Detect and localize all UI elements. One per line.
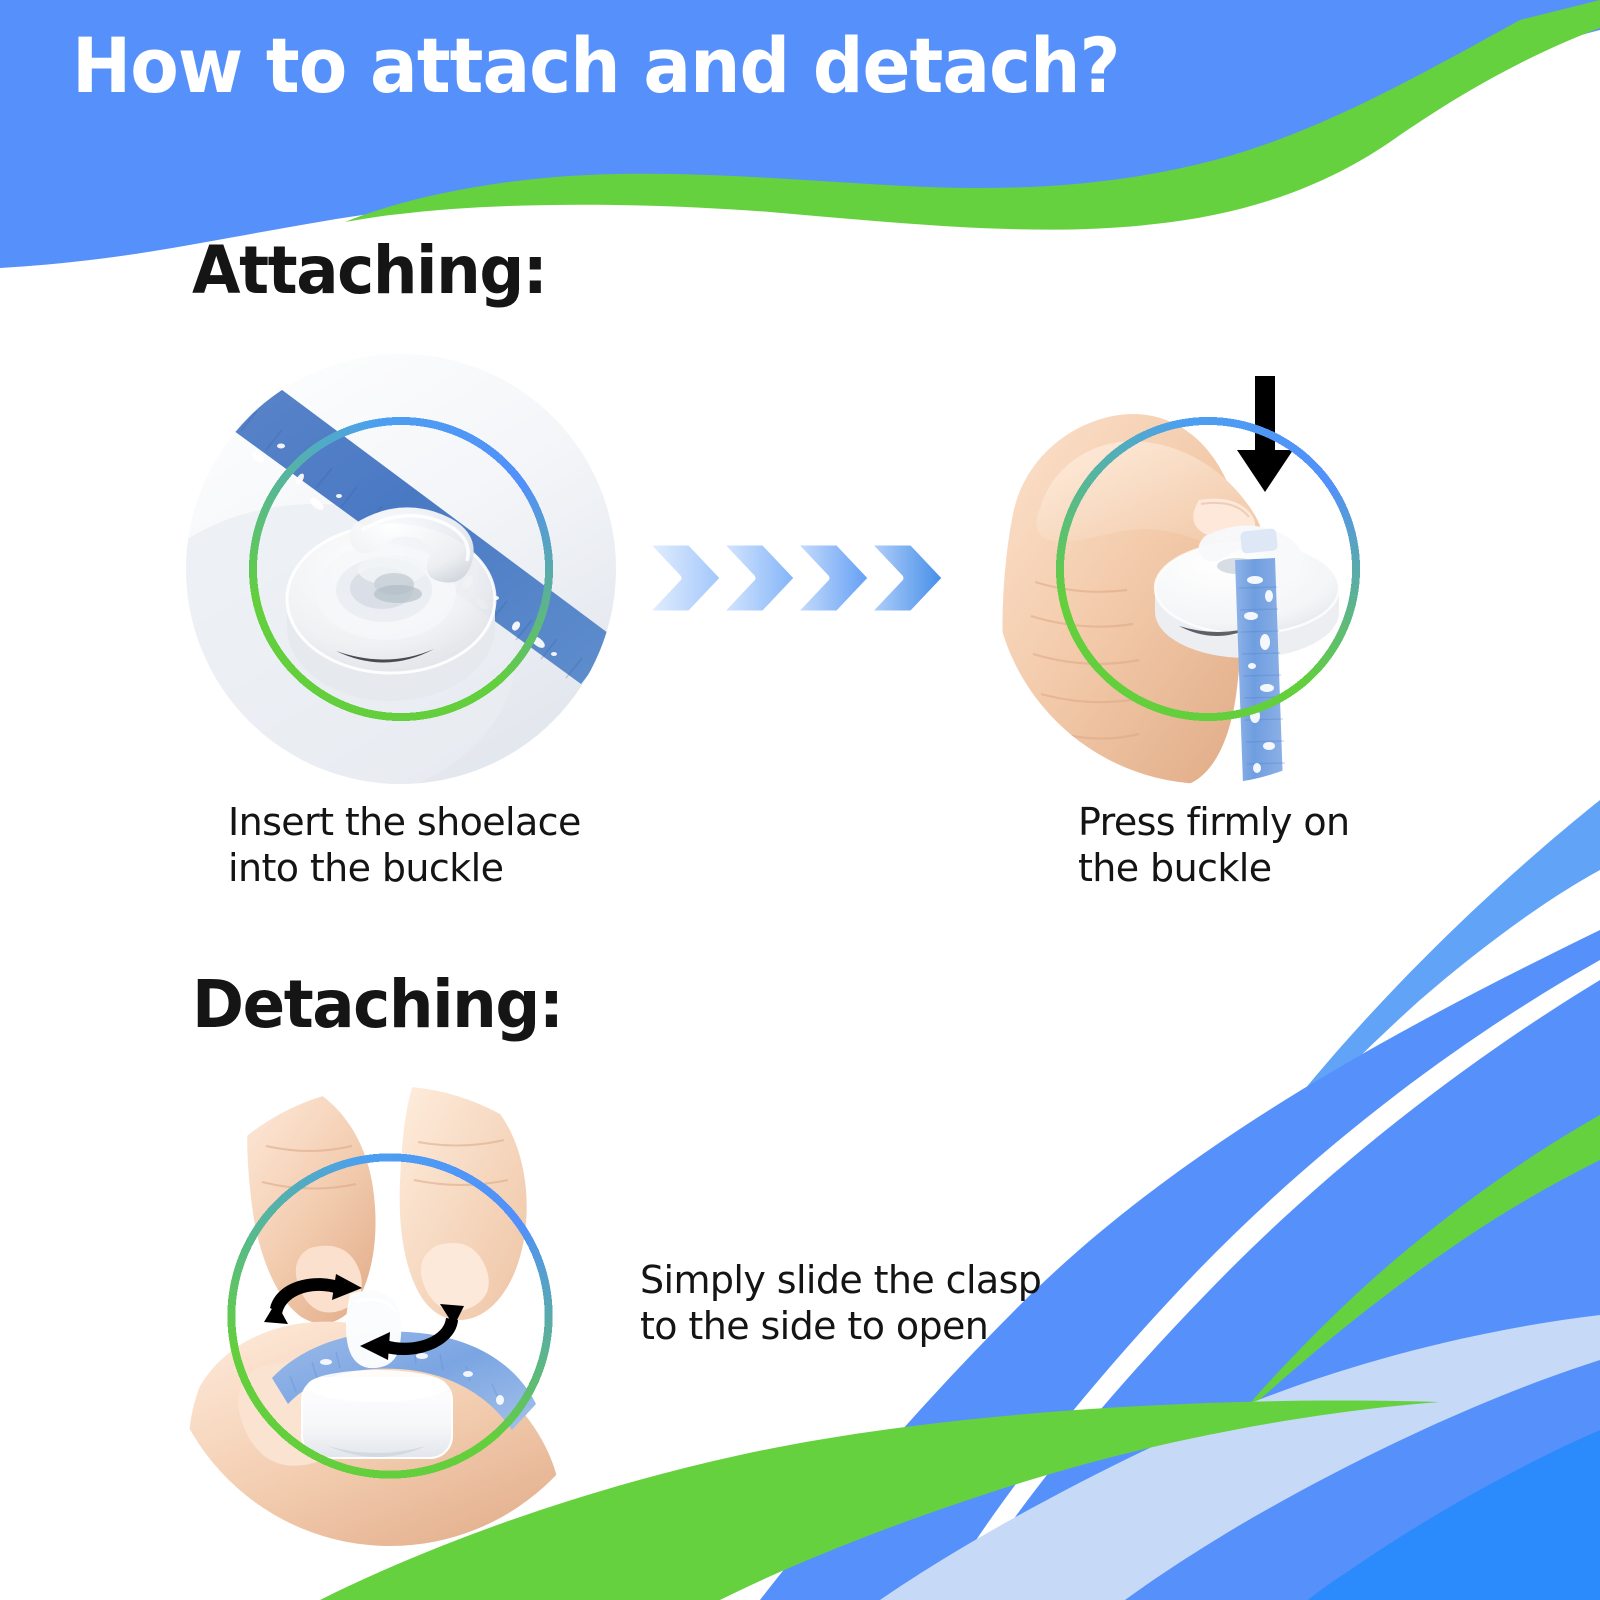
page-title: How to attach and detach? [72,28,1114,104]
photo-press-buckle [993,354,1423,784]
photo-insert-shoelace [186,354,616,784]
caption-slide-clasp: Simply slide the clasp to the side to op… [640,1258,1080,1350]
photo-slide-clasp [160,1086,620,1546]
section-heading-attaching: Attaching: [192,238,546,304]
caption-insert-shoelace: Insert the shoelace into the buckle [228,800,648,892]
infographic-page: How to attach and detach? Attaching: [0,0,1600,1600]
chevron-arrows-icon [640,508,970,648]
caption-press-buckle: Press firmly on the buckle [1078,800,1478,892]
section-heading-detaching: Detaching: [192,972,563,1038]
